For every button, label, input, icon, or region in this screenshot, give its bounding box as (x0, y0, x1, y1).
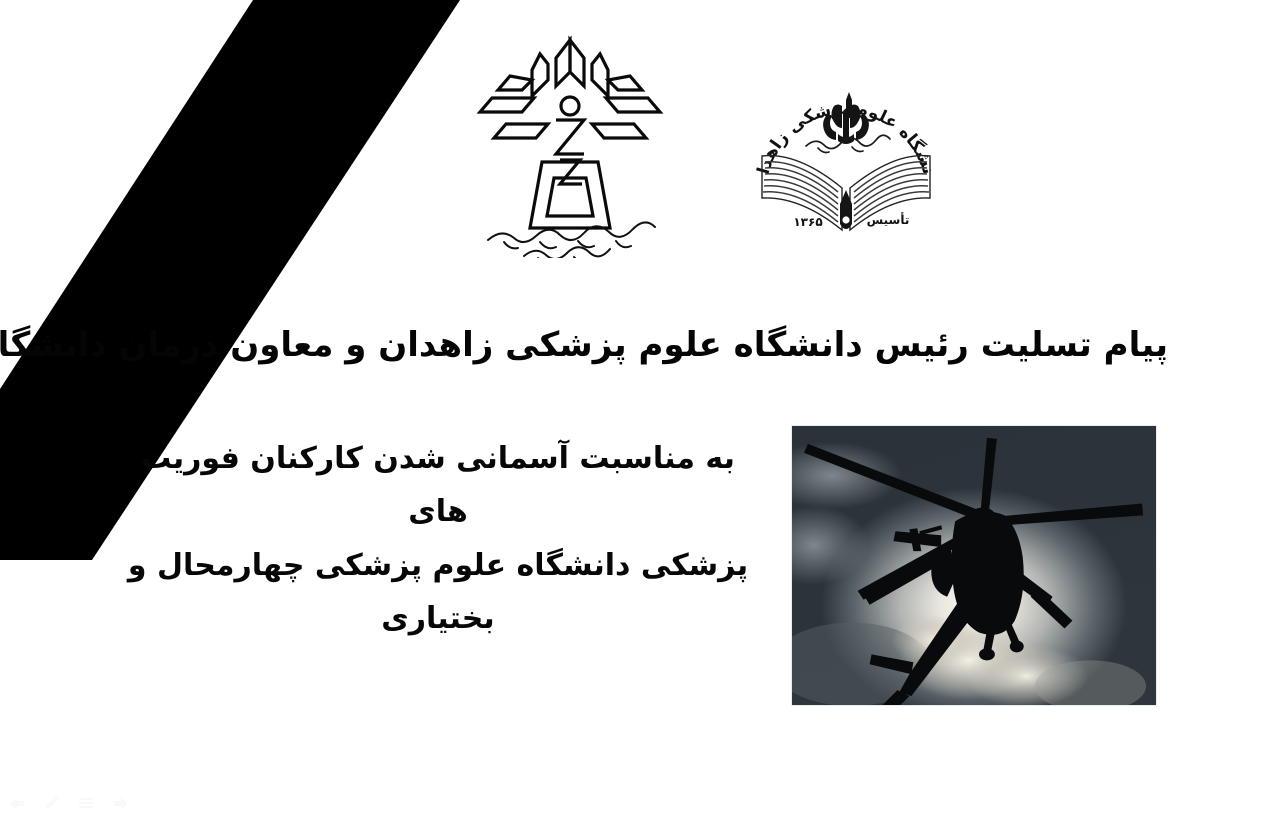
logo-row: دانشگاه علوم پزشکی و خدمات بهداشتی درمان… (0, 0, 1280, 300)
message-line-1: به مناسبت آسمانی شدن کارکنان فوریت های (108, 432, 768, 539)
zaums-founded-year: ۱۳۶۵ (793, 215, 822, 229)
chaharmahal-bakhtiari-university-logo: دانشگاه علوم پزشکی و خدمات بهداشتی درمان… (470, 28, 670, 258)
pencil-icon[interactable] (40, 792, 64, 814)
list-lines-icon[interactable] (74, 792, 98, 814)
page-title: پیام تسلیت رئیس دانشگاه علوم پزشکی زاهدا… (113, 323, 1168, 369)
reply-arrow-icon[interactable] (6, 792, 30, 814)
zahedan-university-of-medical-sciences-logo: دانشگاه علوم پزشکی زاهدان (748, 48, 944, 244)
bottom-toolbar[interactable] (0, 784, 1280, 822)
zaums-founded-label: تأسیس (867, 212, 910, 227)
mourning-poster: دانشگاه علوم پزشکی و خدمات بهداشتی درمان… (0, 0, 1280, 822)
zaums-motto (806, 135, 890, 152)
message-body: به مناسبت آسمانی شدن کارکنان فوریت های پ… (108, 432, 768, 646)
message-line-2: پزشکی دانشگاه علوم پزشکی چهارمحال و بختی… (108, 539, 768, 646)
forward-arrow-icon[interactable] (108, 792, 132, 814)
helicopter-silhouette-photo: سایه بالگرد در برابر خورشید و ابرها (791, 425, 1157, 706)
